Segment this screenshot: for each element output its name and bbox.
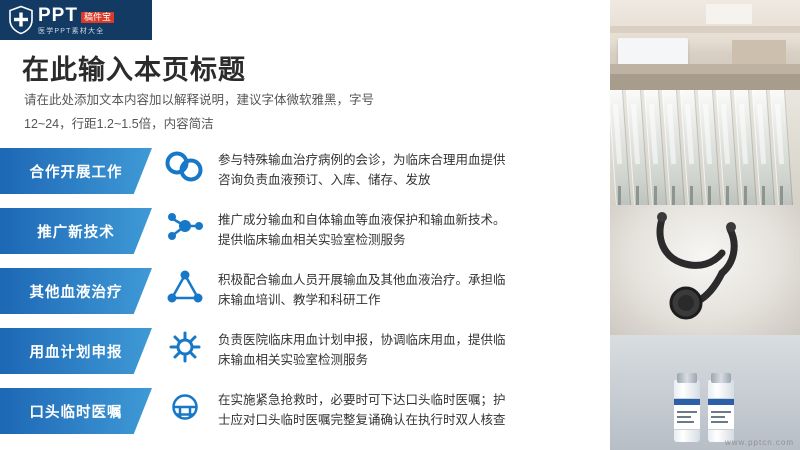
slide: PPT 稿件宝 医学PPT素材大全 在此输入本页标题 请在此处添加文本内容加以解… (0, 0, 800, 450)
content-row: 合作开展工作 参与特殊输血治疗病例的会诊，为临床合理用血提供 咨询负责血液预订、… (0, 148, 610, 206)
row-text-line-1: 在实施紧急抢救时，必要时可下达口头临时医嘱；护 (218, 390, 600, 410)
row-text-line-2: 士应对口头临时医嘱完整复诵确认在执行时双人核查 (218, 410, 600, 430)
content-row: 其他血液治疗 积极配合输血人员开展输血及其他血液治疗。承担临 床输血培训、教学和… (0, 268, 610, 326)
row-tag-label[interactable]: 口头临时医嘱 (0, 388, 152, 434)
row-text-line-2: 床输血培训、教学和科研工作 (218, 290, 600, 310)
row-text-line-1: 积极配合输血人员开展输血及其他血液治疗。承担临 (218, 270, 600, 290)
brand-logo: PPT 稿件宝 医学PPT素材大全 (0, 0, 152, 40)
row-tag-label[interactable]: 推广新技术 (0, 208, 152, 254)
subtitle-line-1: 请在此处添加文本内容加以解释说明，建议字体微软雅黑，字号 (24, 88, 584, 112)
molecule-node-icon (152, 208, 218, 244)
row-text: 参与特殊输血治疗病例的会诊，为临床合理用血提供 咨询负责血液预订、入库、储存、发… (218, 148, 610, 190)
triangle-network-icon (152, 268, 218, 304)
row-tag-label[interactable]: 其他血液治疗 (0, 268, 152, 314)
logo-tagline: 医学PPT素材大全 (38, 28, 114, 35)
row-tag-label[interactable]: 用血计划申报 (0, 328, 152, 374)
dome-grid-icon (152, 388, 218, 424)
row-text: 在实施紧急抢救时，必要时可下达口头临时医嘱；护 士应对口头临时医嘱完整复诵确认在… (218, 388, 610, 430)
row-text-line-1: 参与特殊输血治疗病例的会诊，为临床合理用血提供 (218, 150, 600, 170)
logo-badge: 稿件宝 (81, 12, 114, 23)
syringes-photo (610, 90, 800, 205)
stethoscope-photo (610, 205, 800, 335)
shield-cross-icon (8, 5, 34, 35)
page-subtitle: 请在此处添加文本内容加以解释说明，建议字体微软雅黑，字号 12~24，行距1.2… (24, 88, 584, 136)
photo-column: www.pptcn.com (610, 0, 800, 450)
watermark-text: www.pptcn.com (725, 438, 794, 447)
vaccine-vials-photo: www.pptcn.com (610, 335, 800, 450)
content-row: 用血计划申报 负责医院临床用血计 (0, 328, 610, 386)
content-row: 推广新技术 推广成分输血和自体输血等血液保护和输血新技术。 提供临床输血相关实验… (0, 208, 610, 266)
page-title: 在此输入本页标题 (22, 48, 246, 87)
row-text-line-2: 提供临床输血相关实验室检测服务 (218, 230, 600, 250)
row-text-line-2: 床输血相关实验室检测服务 (218, 350, 600, 370)
two-circles-icon (152, 148, 218, 184)
subtitle-line-2: 12~24，行距1.2~1.5倍，内容简洁 (24, 112, 584, 136)
row-text: 积极配合输血人员开展输血及其他血液治疗。承担临 床输血培训、教学和科研工作 (218, 268, 610, 310)
gear-burst-icon (152, 328, 218, 364)
row-tag-label[interactable]: 合作开展工作 (0, 148, 152, 194)
row-text-line-1: 推广成分输血和自体输血等血液保护和输血新技术。 (218, 210, 600, 230)
row-text: 推广成分输血和自体输血等血液保护和输血新技术。 提供临床输血相关实验室检测服务 (218, 208, 610, 250)
clinic-room-photo (610, 0, 800, 90)
content-rows: 合作开展工作 参与特殊输血治疗病例的会诊，为临床合理用血提供 咨询负责血液预订、… (0, 148, 610, 448)
row-text: 负责医院临床用血计划申报，协调临床用血，提供临 床输血相关实验室检测服务 (218, 328, 610, 370)
content-row: 口头临时医嘱 在实施紧急抢救时，必要时可下达口头临时医嘱；护 士应对口头临时医嘱… (0, 388, 610, 446)
row-text-line-1: 负责医院临床用血计划申报，协调临床用血，提供临 (218, 330, 600, 350)
row-text-line-2: 咨询负责血液预订、入库、储存、发放 (218, 170, 600, 190)
logo-brand-text: PPT (38, 6, 78, 25)
